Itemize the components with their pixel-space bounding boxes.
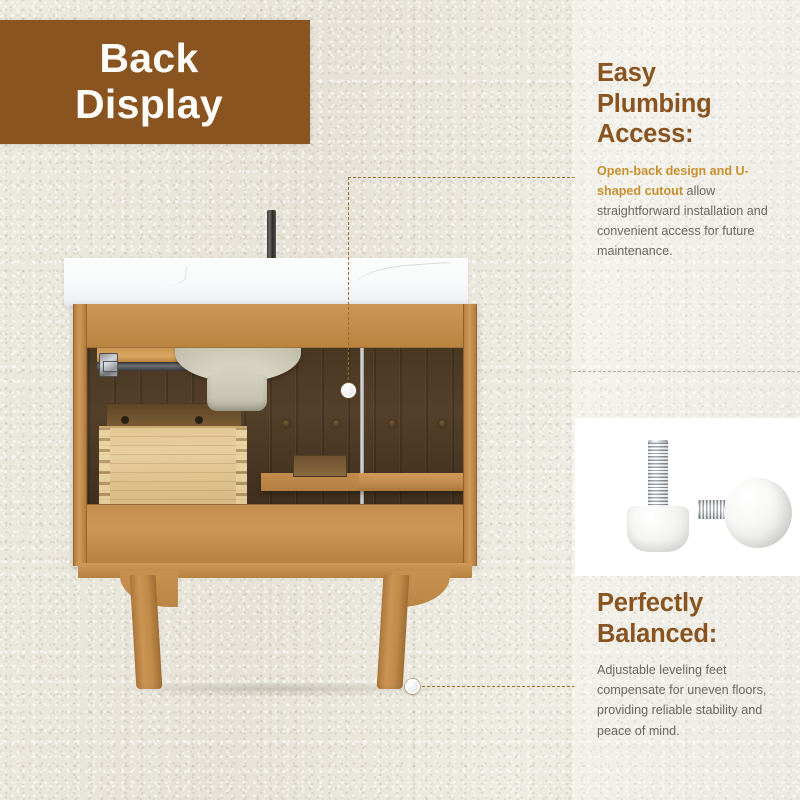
faucet-tailpiece <box>267 210 276 262</box>
feature-heading-line: Easy <box>597 59 656 87</box>
banner-title-line-1: Back <box>99 36 198 82</box>
leveling-foot-callout-marker-dot <box>405 679 420 694</box>
marble-vein <box>125 257 188 288</box>
plumbing-callout-leader-vertical <box>348 177 349 390</box>
feature-divider <box>573 371 800 372</box>
dovetail-joint <box>99 428 110 504</box>
feature-heading-line: Plumbing <box>597 90 712 118</box>
feature-body: Open-back design and U-shaped cutout all… <box>597 161 783 262</box>
feature-body-highlight: Open-back design and U-shaped cutout <box>597 164 749 198</box>
leveling-foot-side-view <box>698 478 792 548</box>
sink-drain-neck <box>207 375 267 411</box>
plumbing-callout-marker-dot <box>341 383 356 398</box>
foot-base-pad <box>627 506 689 552</box>
leveling-feet-inset-photo <box>575 418 800 576</box>
drawer-box-grain <box>99 428 247 504</box>
marble-countertop <box>64 258 468 306</box>
screw-threads <box>648 442 668 512</box>
cabinet-top-rail <box>87 304 463 348</box>
foot-base-pad <box>724 478 792 548</box>
plumbing-callout-leader-horizontal <box>348 177 575 178</box>
vanity-back-view-illustration <box>62 205 482 695</box>
feature-body: Adjustable leveling feet compensate for … <box>597 660 783 741</box>
dovetail-joint <box>236 428 247 504</box>
cabinet-body <box>73 304 477 566</box>
assembly-screw <box>389 420 396 427</box>
pine-drawer-box <box>99 426 247 504</box>
banner-title-line-2: Display <box>75 82 223 128</box>
cabinet-right-stile <box>463 304 477 566</box>
feature-perfectly-balanced: Perfectly Balanced: Adjustable leveling … <box>597 588 783 741</box>
tapered-leg-right <box>377 575 410 689</box>
feature-heading: Perfectly Balanced: <box>597 588 783 649</box>
marble-vein <box>355 262 453 295</box>
feature-body-rest: Adjustable leveling feet compensate for … <box>597 663 766 737</box>
feature-heading-line: Perfectly <box>597 589 703 617</box>
assembly-screw <box>439 420 446 427</box>
leveling-foot-upright <box>627 440 689 552</box>
contact-shadow <box>108 681 448 697</box>
feature-heading-line: Access: <box>597 120 693 148</box>
feature-heading-line: Balanced: <box>597 620 717 648</box>
cabinet-bottom-rail <box>87 504 463 566</box>
assembly-screw <box>283 420 290 427</box>
assembly-screw <box>333 420 340 427</box>
feature-heading: Easy Plumbing Access: <box>597 58 783 150</box>
leveling-foot-callout-leader <box>412 686 575 687</box>
cabinet-left-stile <box>73 304 87 566</box>
open-back-cavity <box>87 348 463 504</box>
drawer-slide-bracket <box>99 353 118 377</box>
feature-easy-plumbing-access: Easy Plumbing Access: Open-back design a… <box>597 58 783 261</box>
u-shaped-cutout <box>293 455 347 477</box>
back-display-banner: Back Display <box>0 20 310 144</box>
